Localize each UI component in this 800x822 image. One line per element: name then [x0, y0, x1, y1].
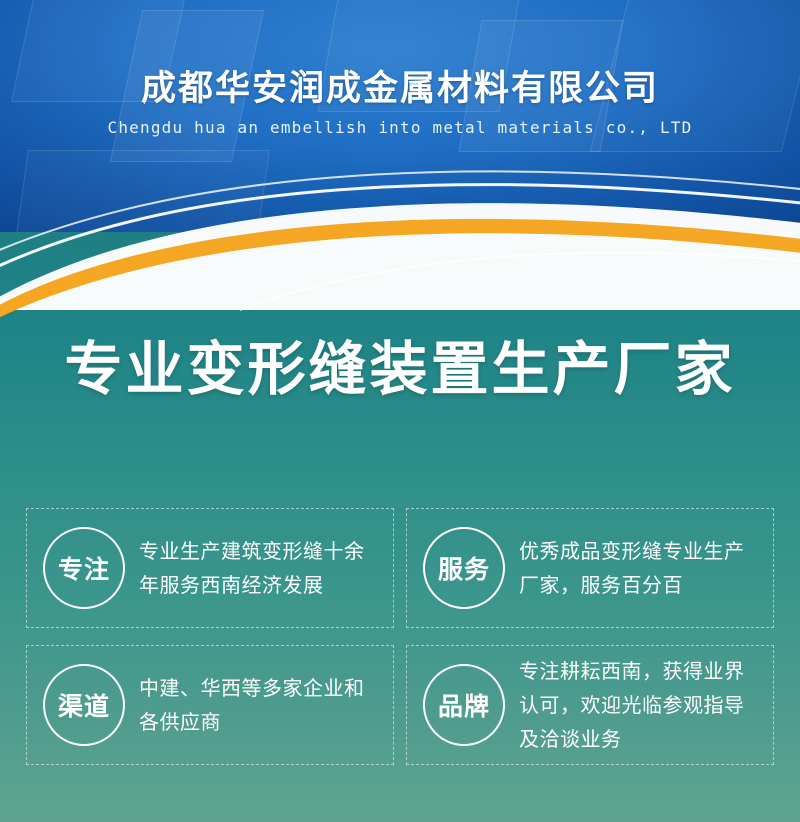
feature-text: 优秀成品变形缝专业生产厂家，服务百分百 [519, 534, 763, 602]
feature-badge: 渠道 [43, 664, 125, 746]
feature-card-grid: 专注 专业生产建筑变形缝十余年服务西南经济发展 服务 优秀成品变形缝专业生产厂家… [26, 508, 774, 765]
promo-poster: 成都华安润成金属材料有限公司 Chengdu hua an embellish … [0, 0, 800, 822]
company-name-cn: 成都华安润成金属材料有限公司 [0, 60, 800, 111]
feature-text: 中建、华西等多家企业和各供应商 [139, 671, 383, 739]
company-name-en: Chengdu hua an embellish into metal mate… [0, 118, 800, 137]
ribbon-swoosh-decoration [0, 150, 800, 310]
feature-badge: 品牌 [423, 664, 505, 746]
feature-text: 专业生产建筑变形缝十余年服务西南经济发展 [139, 534, 383, 602]
feature-card-brand: 品牌 专注耕耘西南，获得业界认可，欢迎光临参观指导及洽谈业务 [406, 645, 774, 765]
feature-badge: 专注 [43, 527, 125, 609]
feature-card-focus: 专注 专业生产建筑变形缝十余年服务西南经济发展 [26, 508, 394, 628]
feature-text: 专注耕耘西南，获得业界认可，欢迎光临参观指导及洽谈业务 [519, 654, 763, 756]
feature-card-channel: 渠道 中建、华西等多家企业和各供应商 [26, 645, 394, 765]
feature-card-service: 服务 优秀成品变形缝专业生产厂家，服务百分百 [406, 508, 774, 628]
feature-badge: 服务 [423, 527, 505, 609]
page-title: 专业变形缝装置生产厂家 [0, 322, 800, 406]
